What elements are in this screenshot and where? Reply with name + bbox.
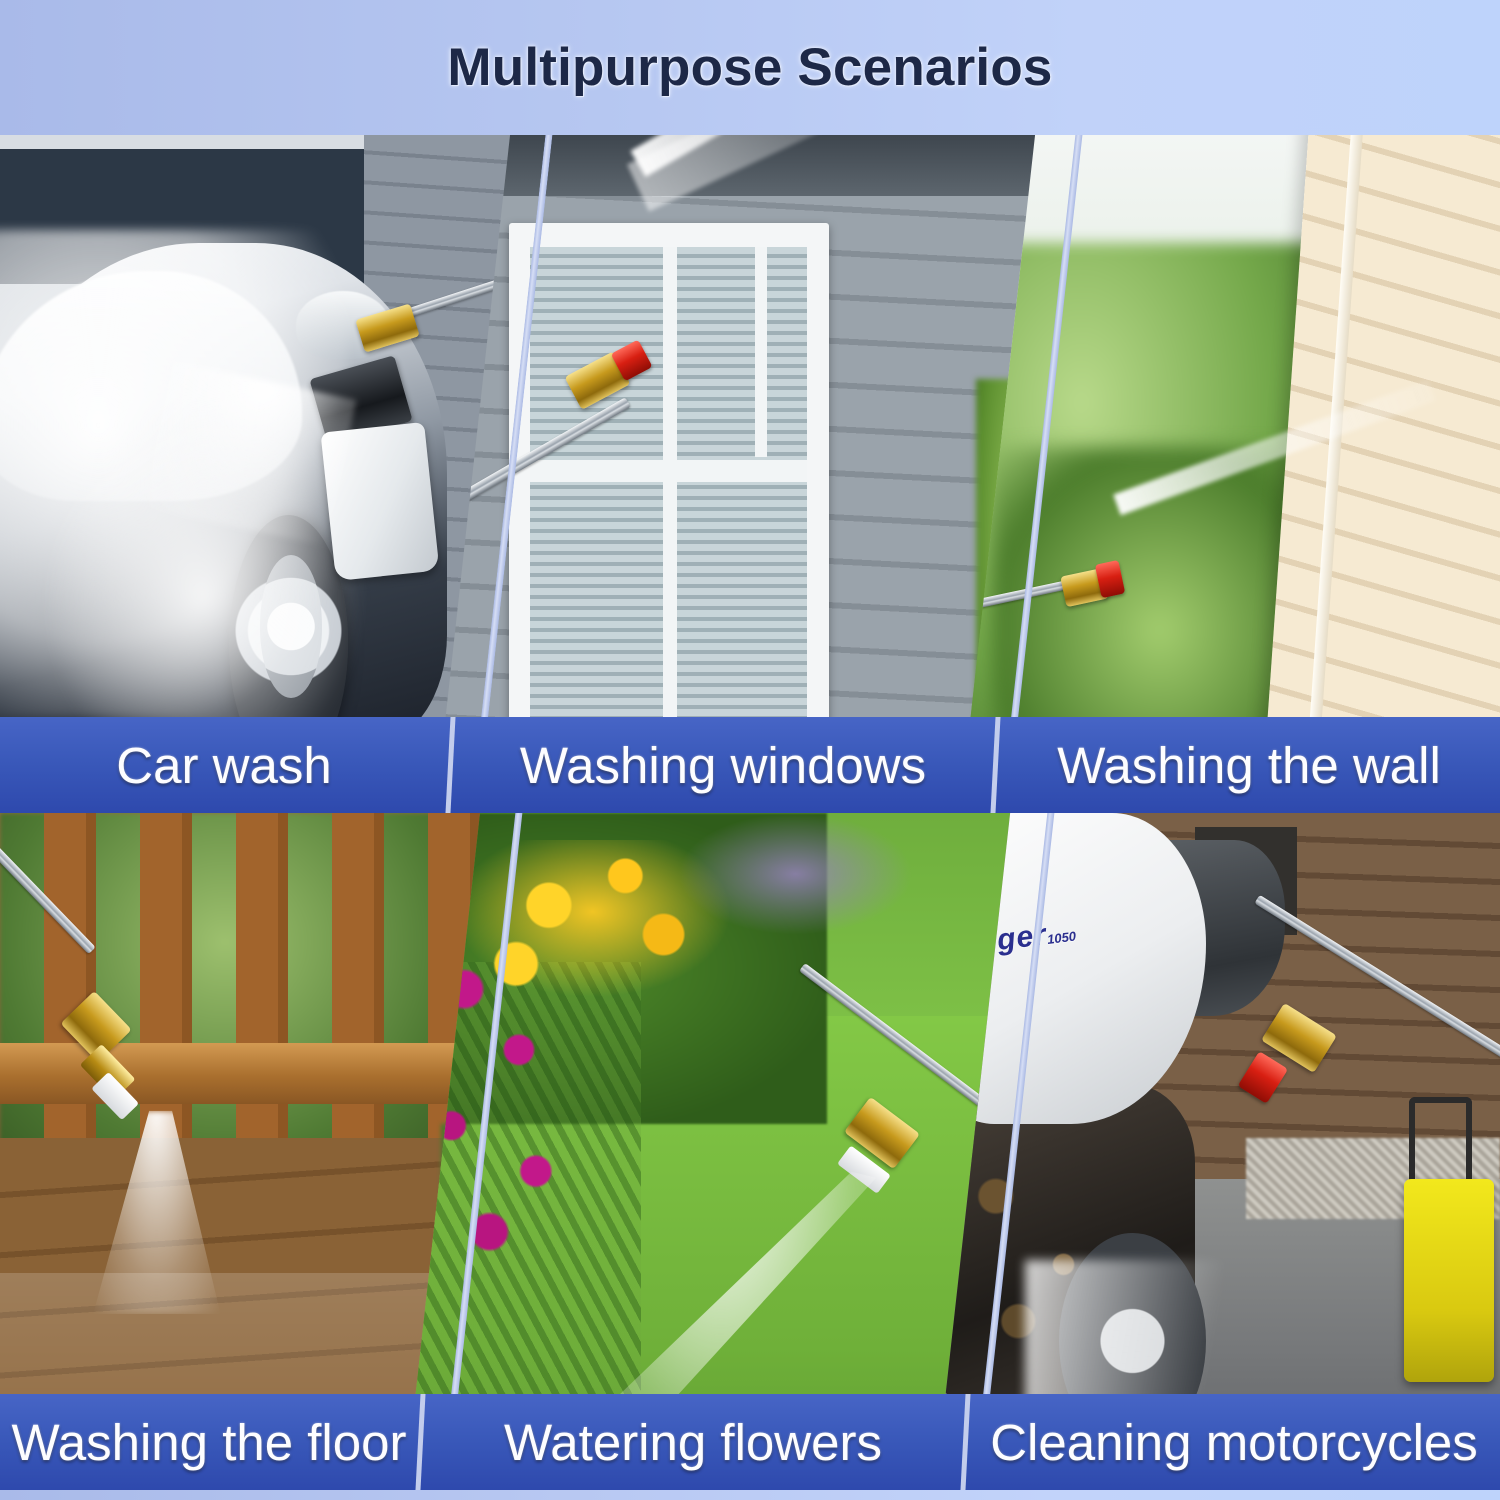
panel-watering-flowers[interactable] — [405, 813, 1025, 1490]
window-mullion-vertical — [663, 247, 678, 728]
panel-car-wash[interactable] — [0, 135, 520, 813]
window-mullion-vertical-upper — [755, 247, 767, 457]
caption-label: Watering flowers — [504, 1413, 882, 1472]
caption-label: Washing windows — [520, 736, 926, 795]
page-title: Multipurpose Scenarios — [447, 37, 1052, 98]
purple-foliage — [678, 813, 914, 935]
multipurpose-scenarios-graphic: Multipurpose Scenarios — [0, 0, 1500, 1500]
caption-washing-the-wall: Washing the wall — [998, 717, 1500, 813]
caption-label: Washing the floor — [12, 1413, 407, 1472]
washing-windows-scene — [435, 135, 1050, 813]
scenario-row-bottom: Tiger1050 — [0, 813, 1500, 1490]
wall-siding — [1258, 135, 1500, 813]
caption-watering-flowers: Watering flowers — [423, 1394, 963, 1490]
car-wash-scene — [0, 135, 520, 813]
motorcycle-badge-subtext: 1050 — [1046, 929, 1077, 947]
panel-washing-windows[interactable] — [435, 135, 1050, 813]
caption-label: Washing the wall — [1057, 736, 1441, 795]
scenario-row-top — [0, 135, 1500, 813]
pressure-washer — [1404, 1179, 1494, 1382]
caption-washing-windows: Washing windows — [453, 717, 993, 813]
deck-top-rail — [0, 1043, 490, 1104]
window-mullion-horizontal — [530, 460, 807, 482]
caption-washing-the-floor: Washing the floor — [0, 1394, 418, 1490]
caption-bar-bottom: Washing the floor Watering flowers Clean… — [0, 1394, 1500, 1490]
panel-cleaning-motorcycles[interactable]: Tiger1050 — [935, 813, 1500, 1490]
watering-flowers-scene — [405, 813, 1025, 1490]
caption-label: Cleaning motorcycles — [990, 1413, 1478, 1472]
caption-label: Car wash — [116, 736, 331, 795]
caption-bar-top: Car wash Washing windows Washing the wal… — [0, 717, 1500, 813]
caption-car-wash: Car wash — [0, 717, 448, 813]
header-banner: Multipurpose Scenarios — [0, 0, 1500, 135]
caption-cleaning-motorcycles: Cleaning motorcycles — [968, 1394, 1500, 1490]
cleaning-motorcycles-scene: Tiger1050 — [935, 813, 1500, 1490]
